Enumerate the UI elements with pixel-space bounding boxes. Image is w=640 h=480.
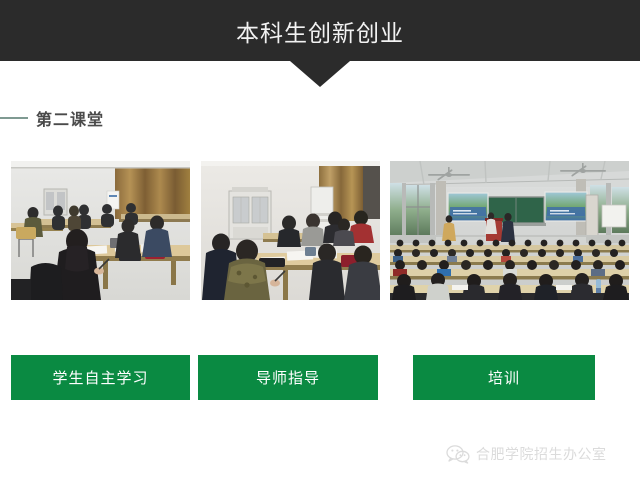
button-student-self-study-label: 学生自主学习 xyxy=(52,367,148,388)
photo-classroom-group-study xyxy=(201,161,380,300)
watermark-text: 合肥学院招生办公室 xyxy=(476,444,607,464)
photo-classroom-students-studying xyxy=(11,161,190,300)
photo-3-artwork xyxy=(390,161,629,300)
button-mentor-guidance[interactable]: 导师指导 xyxy=(198,355,378,400)
button-training[interactable]: 培训 xyxy=(413,355,595,400)
photo-1-artwork xyxy=(11,161,190,300)
photo-lecture-hall-training xyxy=(390,161,629,300)
button-student-self-study[interactable]: 学生自主学习 xyxy=(11,355,190,400)
section-rule-divider xyxy=(0,117,28,119)
section-heading-label: 第二课堂 xyxy=(36,106,104,130)
section-heading: 第二课堂 xyxy=(0,105,300,131)
button-mentor-guidance-label: 导师指导 xyxy=(256,367,320,388)
watermark: 合肥学院招生办公室 xyxy=(446,442,607,466)
button-training-label: 培训 xyxy=(488,367,520,388)
page-title: 本科生创新创业 xyxy=(0,0,640,61)
photo-2-artwork xyxy=(201,161,380,300)
wechat-icon xyxy=(446,444,470,464)
header-arrow-down-icon xyxy=(290,61,350,87)
